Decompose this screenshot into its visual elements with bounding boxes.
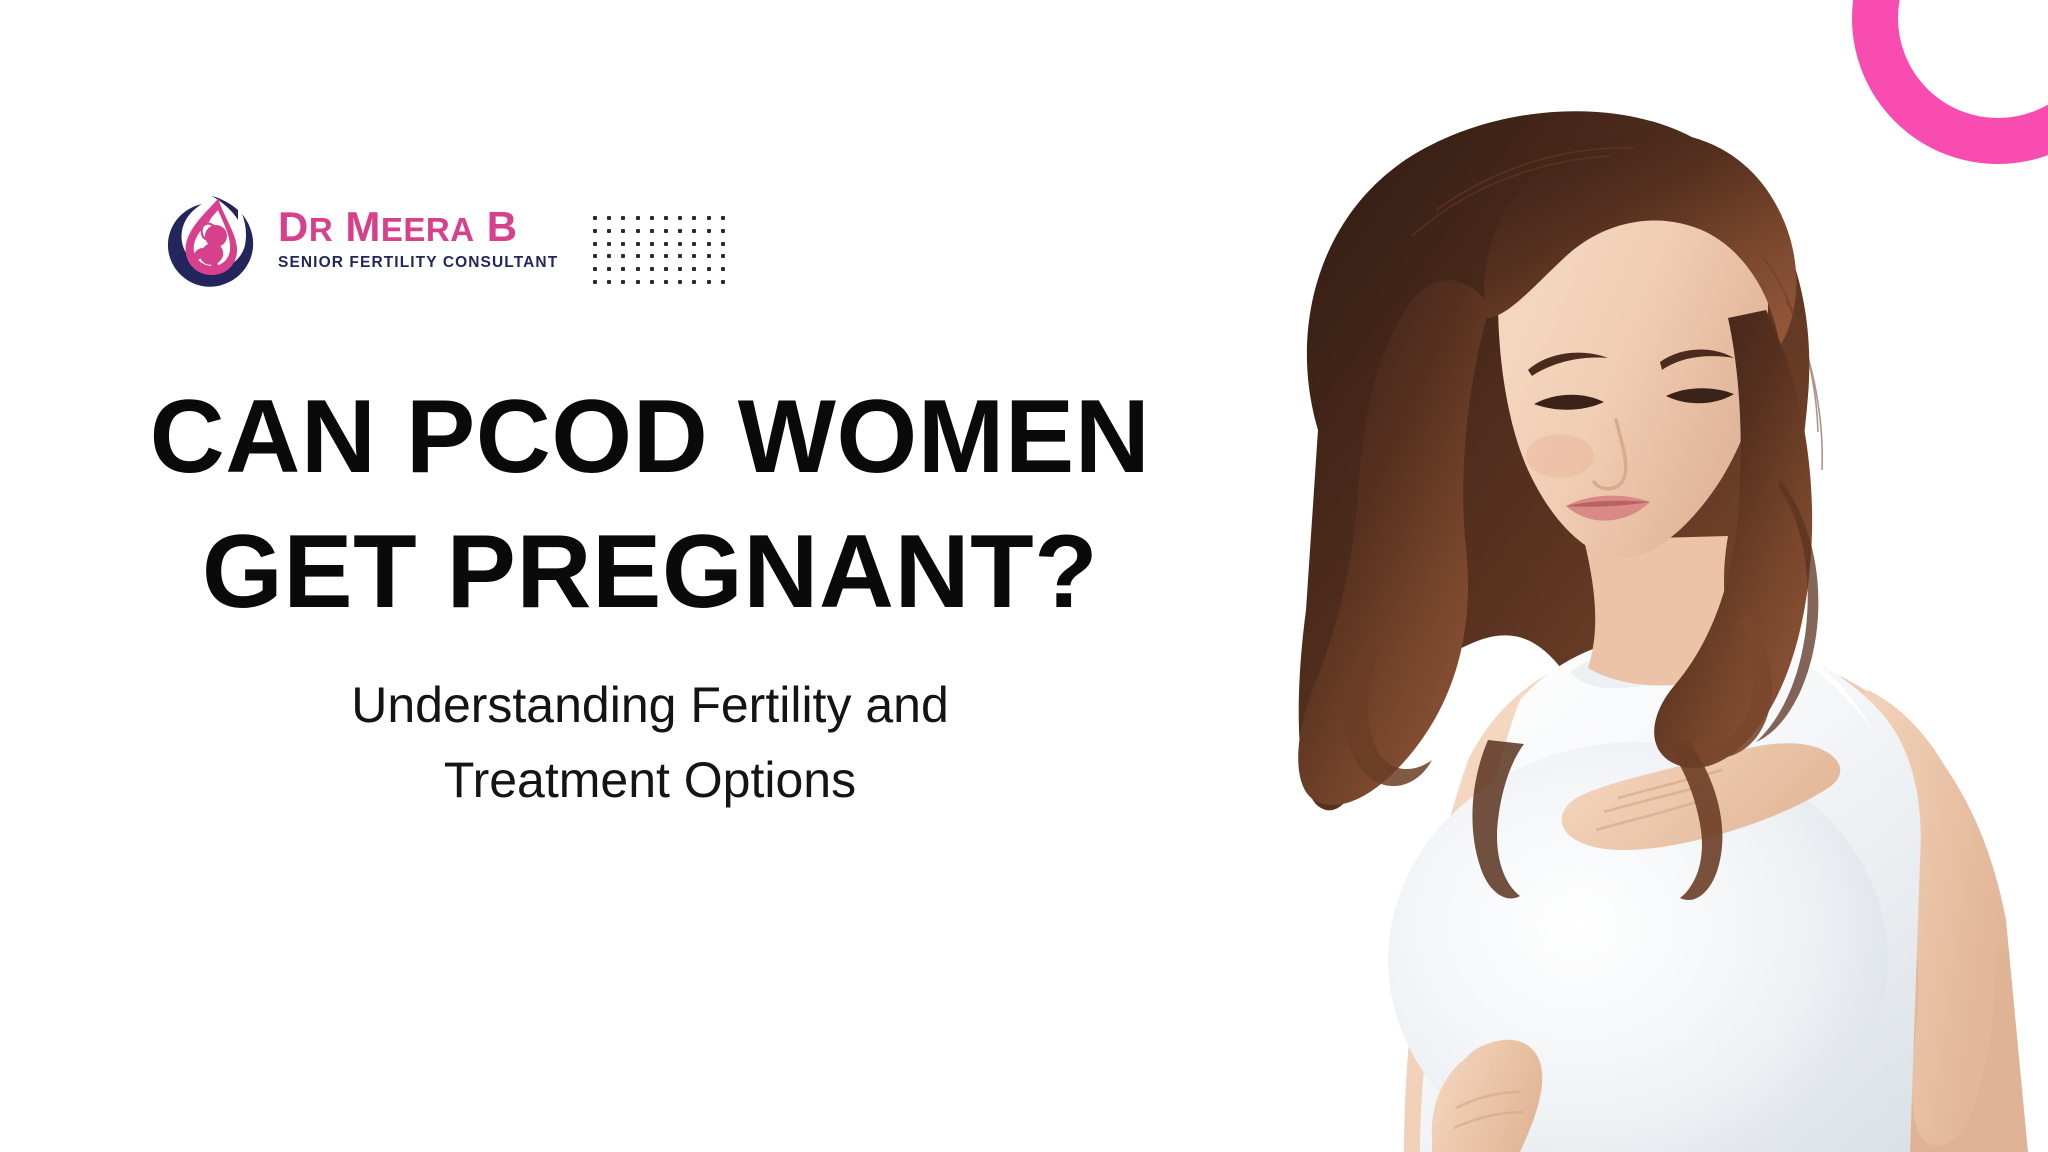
- headline-line-1: CAN PCOD WOMEN: [110, 370, 1190, 505]
- grid-dot: [621, 216, 625, 220]
- logo-name-meera-m: M: [345, 203, 381, 250]
- grid-dot: [607, 267, 611, 271]
- grid-dot: [678, 242, 682, 246]
- headline-line-2: GET PREGNANT?: [110, 505, 1190, 640]
- grid-dot: [678, 254, 682, 258]
- grid-dot: [721, 216, 725, 220]
- grid-dot: [636, 216, 640, 220]
- grid-dot: [664, 216, 668, 220]
- grid-dot: [607, 216, 611, 220]
- pregnant-woman-photo: [1168, 0, 2048, 1152]
- grid-dot: [664, 242, 668, 246]
- grid-dot: [593, 242, 597, 246]
- logo-name-initial-b: B: [487, 203, 518, 250]
- grid-dot: [650, 254, 654, 258]
- grid-dot: [721, 242, 725, 246]
- grid-dot: [636, 267, 640, 271]
- grid-dot: [707, 229, 711, 233]
- grid-dot: [593, 280, 597, 284]
- grid-dot: [650, 267, 654, 271]
- grid-dot: [707, 280, 711, 284]
- grid-dot: [664, 280, 668, 284]
- grid-dot: [607, 229, 611, 233]
- logo-name-meera-rest: EERA: [381, 211, 475, 248]
- logo-wordmark: DR MEERA B SENIOR FERTILITY CONSULTANT: [278, 206, 558, 275]
- logo-name-dr-d: D: [278, 203, 309, 250]
- grid-dot: [707, 254, 711, 258]
- grid-dot: [664, 254, 668, 258]
- grid-dot: [593, 229, 597, 233]
- grid-dot: [721, 267, 725, 271]
- grid-dot: [621, 267, 625, 271]
- grid-dot: [678, 216, 682, 220]
- page-subtitle: Understanding Fertility and Treatment Op…: [110, 668, 1190, 818]
- pink-ring-decoration: [1852, 0, 2048, 164]
- grid-dot: [678, 280, 682, 284]
- grid-dot: [692, 229, 696, 233]
- grid-dot: [621, 229, 625, 233]
- grid-dot: [721, 229, 725, 233]
- grid-dot: [621, 280, 625, 284]
- grid-dot: [593, 254, 597, 258]
- subtitle-line-2: Treatment Options: [110, 743, 1190, 818]
- grid-dot: [721, 280, 725, 284]
- grid-dot: [636, 242, 640, 246]
- grid-dot: [650, 229, 654, 233]
- logo-name: DR MEERA B: [278, 206, 518, 248]
- logo-name-dr-r: R: [309, 211, 333, 248]
- brand-logo[interactable]: DR MEERA B SENIOR FERTILITY CONSULTANT: [156, 186, 558, 294]
- logo-mark-fetus-icon: [156, 186, 264, 294]
- hero-text-column: CAN PCOD WOMEN GET PREGNANT? Understandi…: [110, 370, 1190, 818]
- grid-dot: [692, 267, 696, 271]
- grid-dot: [636, 229, 640, 233]
- grid-dot: [650, 280, 654, 284]
- grid-dot: [678, 267, 682, 271]
- grid-dot: [607, 242, 611, 246]
- page-title: CAN PCOD WOMEN GET PREGNANT?: [110, 370, 1190, 640]
- grid-dot: [636, 254, 640, 258]
- grid-dot: [692, 216, 696, 220]
- subtitle-line-1: Understanding Fertility and: [110, 668, 1190, 743]
- grid-dot: [607, 254, 611, 258]
- grid-dot: [593, 267, 597, 271]
- grid-dot: [707, 242, 711, 246]
- logo-tagline: SENIOR FERTILITY CONSULTANT: [278, 255, 558, 271]
- grid-dot: [664, 229, 668, 233]
- grid-dot: [707, 216, 711, 220]
- grid-dot: [621, 242, 625, 246]
- grid-dot: [692, 254, 696, 258]
- grid-dot: [692, 242, 696, 246]
- grid-dot: [692, 280, 696, 284]
- slide-canvas: DR MEERA B SENIOR FERTILITY CONSULTANT C…: [0, 0, 2048, 1152]
- grid-dot: [650, 216, 654, 220]
- grid-dot: [636, 280, 640, 284]
- grid-dot: [707, 267, 711, 271]
- dot-grid-decoration: [588, 212, 730, 288]
- grid-dot: [593, 216, 597, 220]
- grid-dot: [650, 242, 654, 246]
- grid-dot: [678, 229, 682, 233]
- grid-dot: [621, 254, 625, 258]
- grid-dot: [607, 280, 611, 284]
- grid-dot: [664, 267, 668, 271]
- grid-dot: [721, 254, 725, 258]
